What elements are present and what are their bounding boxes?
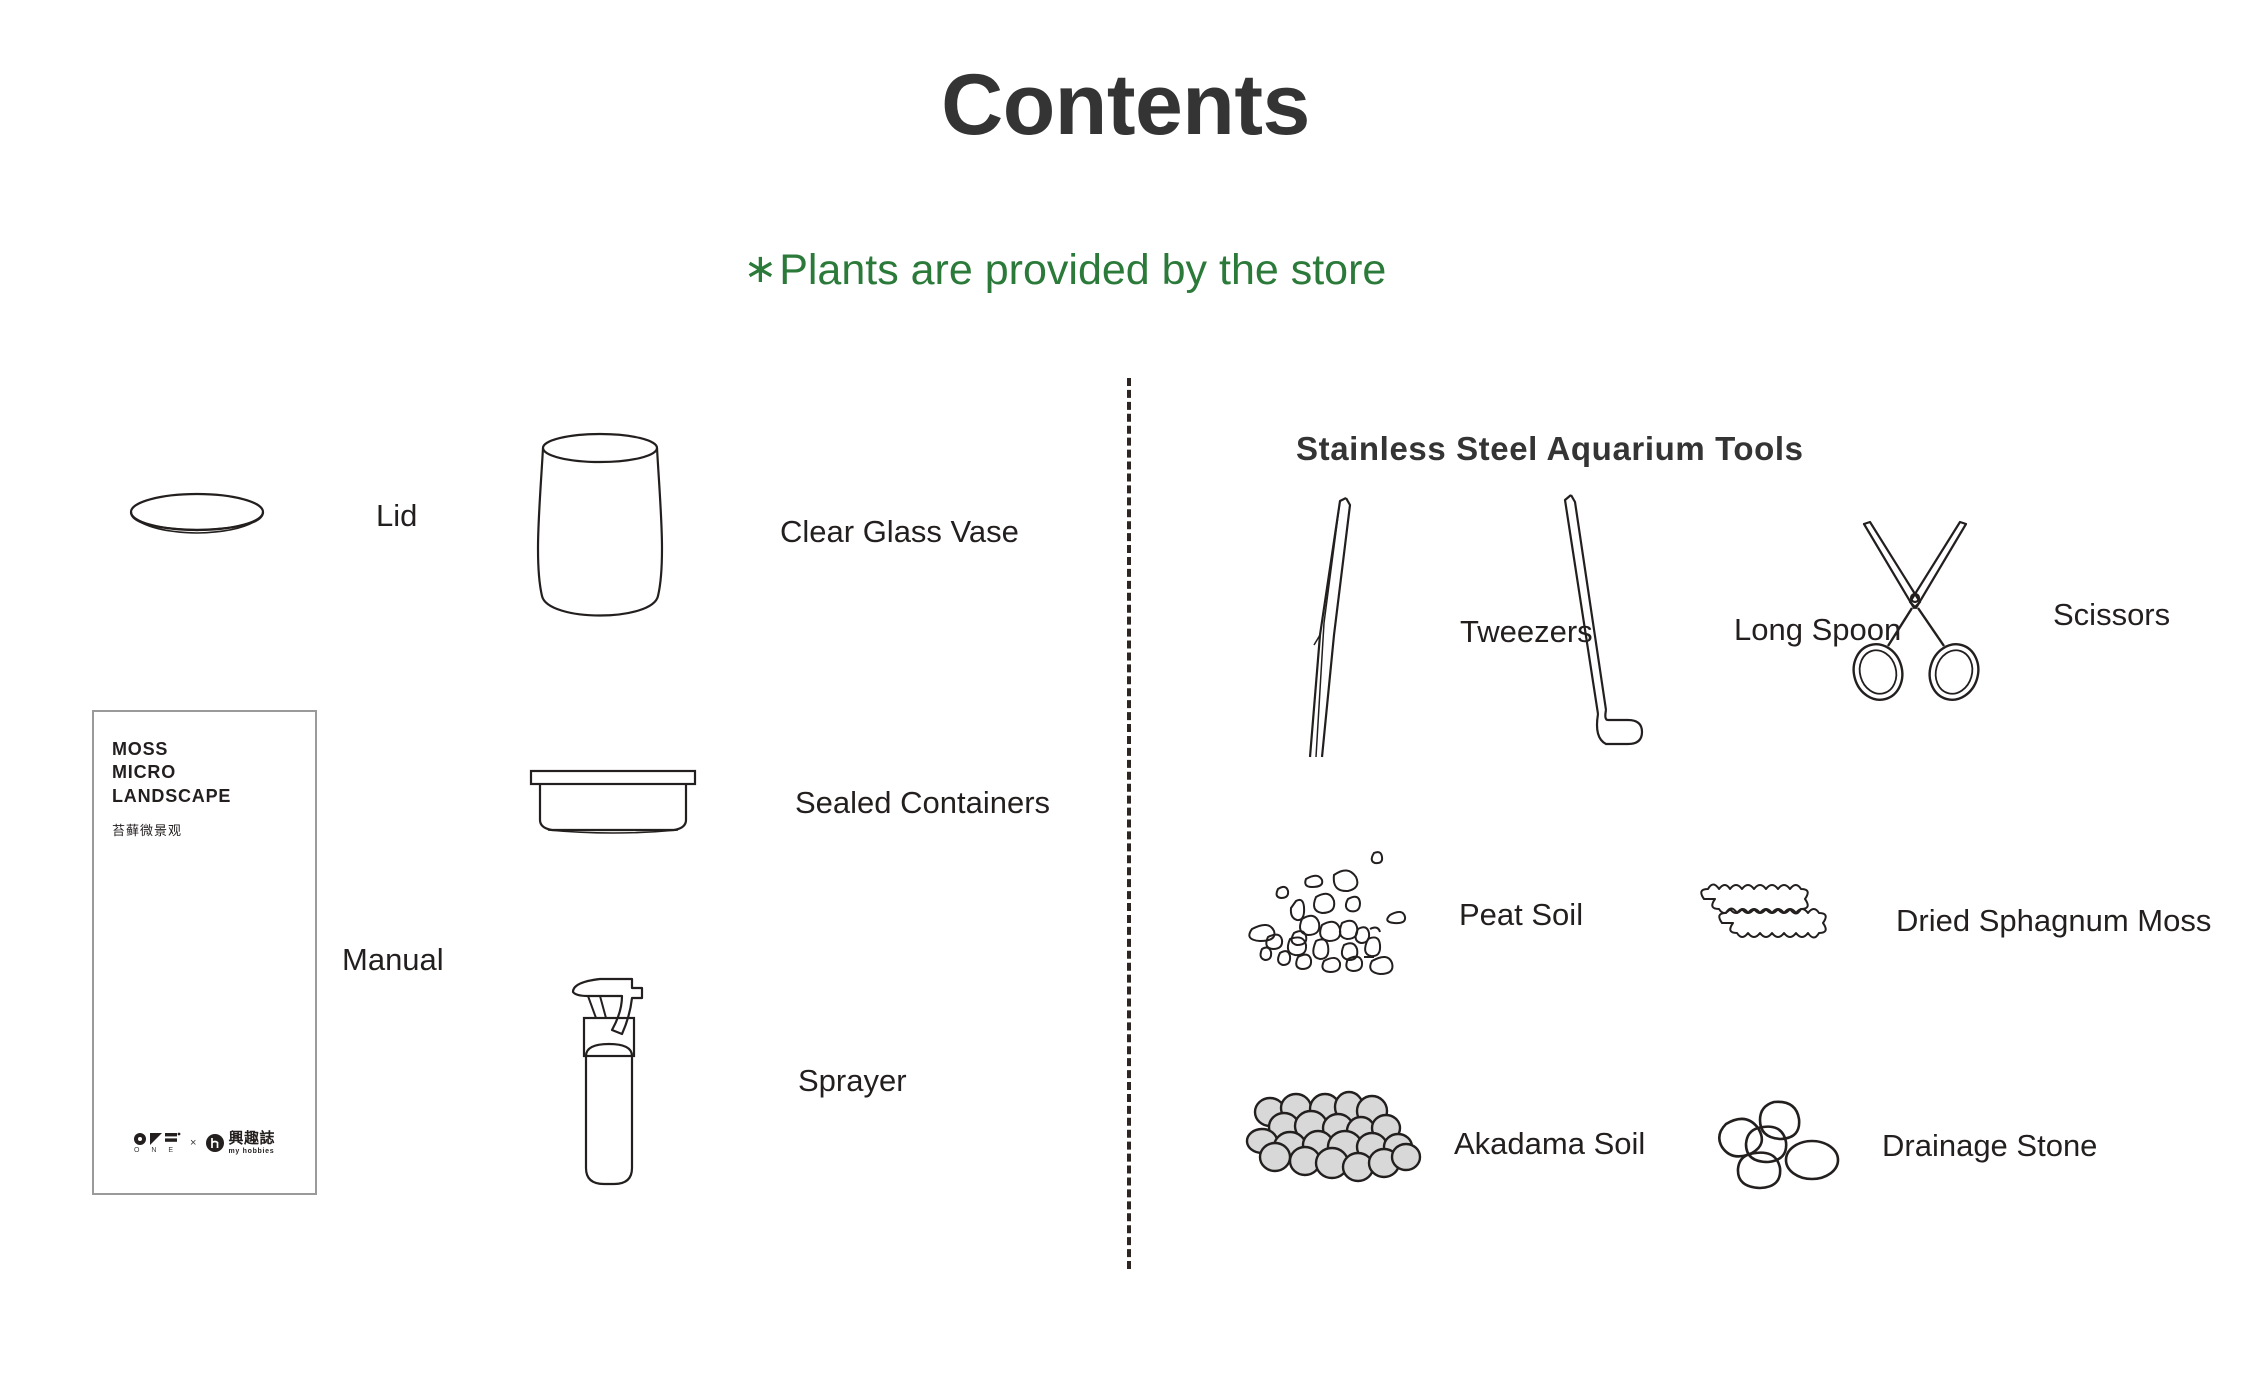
item-sprayer: Sprayer [570, 972, 907, 1190]
peat-soil-icon [1248, 845, 1433, 970]
item-peat-soil: Peat Soil [1248, 845, 1583, 970]
manual-cover-subtitle-cn: 苔藓微景观 [112, 820, 182, 839]
sealed-container-icon [528, 768, 698, 838]
item-scissors: Scissors [1850, 520, 2170, 720]
subtitle-note: ∗Plants are provided by the store [0, 249, 2130, 292]
contents-page: Contents ∗Plants are provided by the sto… [0, 0, 2251, 1397]
lid-disc-icon [128, 488, 266, 544]
glass-vase-icon [528, 432, 673, 632]
subtitle-text: Plants are provided by the store [779, 246, 1386, 294]
item-akadama-soil: Akadama Soil [1248, 1095, 1645, 1190]
logo-one-marks [134, 1132, 180, 1146]
item-sealed-containers: Sealed Containers [528, 768, 1050, 838]
spray-bottle-icon [570, 972, 680, 1190]
item-lid: Lid [128, 488, 417, 544]
logo-hobby-cn: 興趣誌 [228, 1131, 275, 1146]
drainage-stone-icon [1712, 1098, 1847, 1190]
tools-section-heading: Stainless Steel Aquarium Tools [1296, 430, 1804, 468]
item-label-peat-soil: Peat Soil [1459, 898, 1583, 932]
item-label-sprayer: Sprayer [798, 1064, 907, 1098]
tweezers-icon [1300, 495, 1370, 765]
hobby-badge-icon [206, 1134, 224, 1152]
item-sphagnum-moss: Dried Sphagnum Moss [1694, 885, 2211, 947]
logo-hobby: 興趣誌 my hobbies [206, 1131, 275, 1155]
one-mark-icon [134, 1132, 180, 1146]
long-spoon-icon [1556, 492, 1646, 764]
item-label-lid: Lid [376, 499, 417, 533]
logo-hobby-en: my hobbies [228, 1148, 274, 1155]
page-title: Contents [0, 62, 2251, 148]
manual-cover-title: MOSS MICRO LANDSCAPE [112, 738, 231, 808]
logo-one: O N E [134, 1132, 180, 1154]
manual-logo-row: O N E × 興趣誌 my hobbies [94, 1131, 315, 1155]
item-label-drainage-stone: Drainage Stone [1882, 1129, 2097, 1163]
akadama-soil-icon [1248, 1095, 1426, 1190]
item-drainage-stone: Drainage Stone [1712, 1098, 2097, 1190]
item-label-manual: Manual [342, 942, 444, 978]
section-divider [1127, 378, 1131, 1269]
sphagnum-moss-icon [1694, 885, 1844, 947]
item-label-containers: Sealed Containers [795, 786, 1050, 820]
item-label-vase: Clear Glass Vase [780, 515, 1019, 549]
item-label-scissors: Scissors [2053, 598, 2170, 632]
item-label-sphagnum-moss: Dried Sphagnum Moss [1896, 904, 2211, 938]
logo-one-text: O N E [134, 1147, 178, 1154]
item-label-akadama-soil: Akadama Soil [1454, 1127, 1645, 1161]
manual-booklet-icon: MOSS MICRO LANDSCAPE 苔藓微景观 O N E × [92, 710, 317, 1195]
scissors-icon [1850, 520, 1985, 720]
logo-separator: × [190, 1137, 196, 1149]
item-tweezers: Tweezers [1300, 495, 1593, 765]
item-clear-glass-vase: Clear Glass Vase [528, 432, 1019, 632]
asterisk-icon: ∗ [744, 247, 778, 291]
